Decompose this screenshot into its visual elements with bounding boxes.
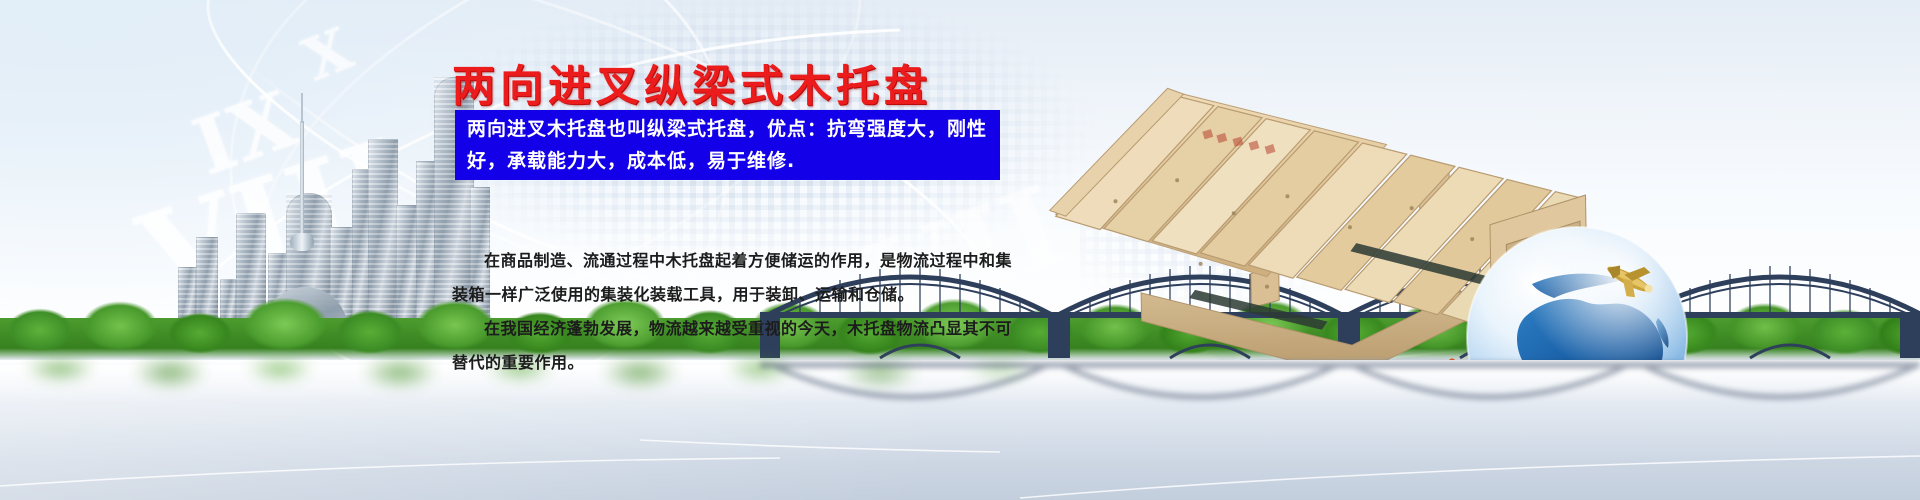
tv-tower-antenna [301, 93, 303, 123]
highlight-callout-text: 两向进叉木托盘也叫纵梁式托盘，优点：抗弯强度大，刚性好，承载能力大，成本低，易于… [455, 113, 1000, 177]
tv-tower-pod [290, 233, 314, 251]
tv-tower [300, 121, 304, 249]
water-highlights [0, 390, 1920, 500]
promo-banner: X IX VIII VII XI VI [0, 0, 1920, 500]
description-paragraph-2: 在我国经济蓬勃发展，物流越来越受重视的今天，木托盘物流凸显其不可替代的重要作用。 [452, 312, 1017, 380]
description-paragraph-1: 在商品制造、流通过程中木托盘起着方便储运的作用，是物流过程中和集装箱一样广泛使用… [452, 244, 1017, 312]
highlight-callout-box: 两向进叉木托盘也叫纵梁式托盘，优点：抗弯强度大，刚性好，承载能力大，成本低，易于… [455, 110, 1000, 180]
page-title: 两向进叉纵梁式木托盘 [452, 52, 932, 114]
description-block: 在商品制造、流通过程中木托盘起着方便储运的作用，是物流过程中和集装箱一样广泛使用… [452, 244, 1017, 380]
